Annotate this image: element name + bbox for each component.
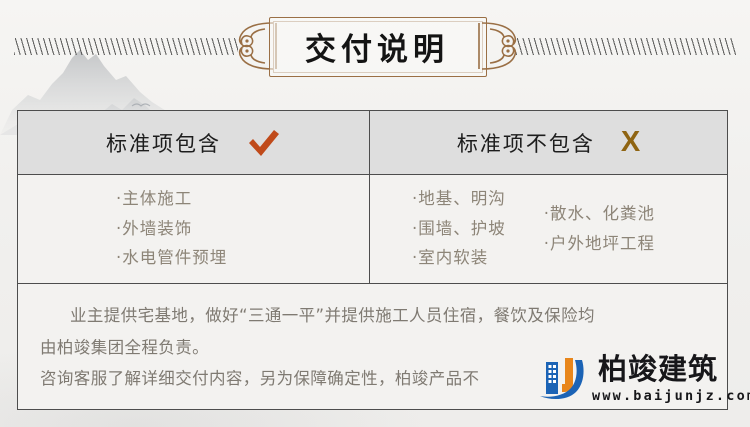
excluded-header-label: 标准项不包含: [457, 128, 595, 158]
page-background: 交付说明 标准项包含: [0, 0, 750, 427]
list-item: ·户外地坪工程: [544, 231, 655, 258]
excluded-item-group-2: ·散水、化粪池 ·户外地坪工程: [544, 201, 655, 257]
table-header-cell-included: 标准项包含: [18, 111, 370, 174]
table-body-cell-included: ·主体施工 ·外墙装饰 ·水电管件预埋: [18, 175, 370, 283]
brand-name: 柏竣建筑: [598, 354, 718, 384]
hatch-decoration-left: [14, 38, 238, 55]
table-header-cell-excluded: 标准项不包含 X: [370, 111, 727, 174]
list-item: ·地基、明沟: [412, 186, 506, 213]
baijun-building-logo-icon: [532, 354, 594, 406]
ornament-swirl-right-icon: [476, 15, 520, 77]
included-header-label: 标准项包含: [106, 128, 221, 158]
table-body-row: ·主体施工 ·外墙装饰 ·水电管件预埋 ·地基、明沟 ·围墙、护坡 ·室内软装 …: [18, 175, 727, 284]
list-item: ·散水、化粪池: [544, 201, 655, 228]
note-line-1: 业主提供宅基地，做好“三通一平”并提供施工人员住宿，餐饮及保险均: [40, 300, 705, 332]
included-item-group: ·主体施工 ·外墙装饰 ·水电管件预埋: [116, 186, 227, 272]
hatch-decoration-right: [516, 38, 736, 55]
list-item: ·外墙装饰: [116, 216, 227, 243]
brand-url: www.baijunjz.com: [592, 388, 750, 404]
list-item: ·围墙、护坡: [412, 216, 506, 243]
excluded-item-group-1: ·地基、明沟 ·围墙、护坡 ·室内软装: [412, 186, 506, 272]
x-mark-icon: X: [621, 128, 640, 157]
check-mark-icon: [247, 128, 281, 158]
title-banner: 交付说明: [235, 11, 520, 81]
list-item: ·主体施工: [116, 186, 227, 213]
table-body-cell-excluded: ·地基、明沟 ·围墙、护坡 ·室内软装 ·散水、化粪池 ·户外地坪工程: [370, 175, 727, 283]
page-header: 交付说明: [0, 0, 750, 92]
list-item: ·水电管件预埋: [116, 245, 227, 272]
brand-watermark: 柏竣建筑 www.baijunjz.com: [520, 352, 738, 414]
page-title: 交付说明: [269, 17, 485, 75]
table-header-row: 标准项包含 标准项不包含 X: [18, 111, 727, 175]
list-item: ·室内软装: [412, 245, 506, 272]
